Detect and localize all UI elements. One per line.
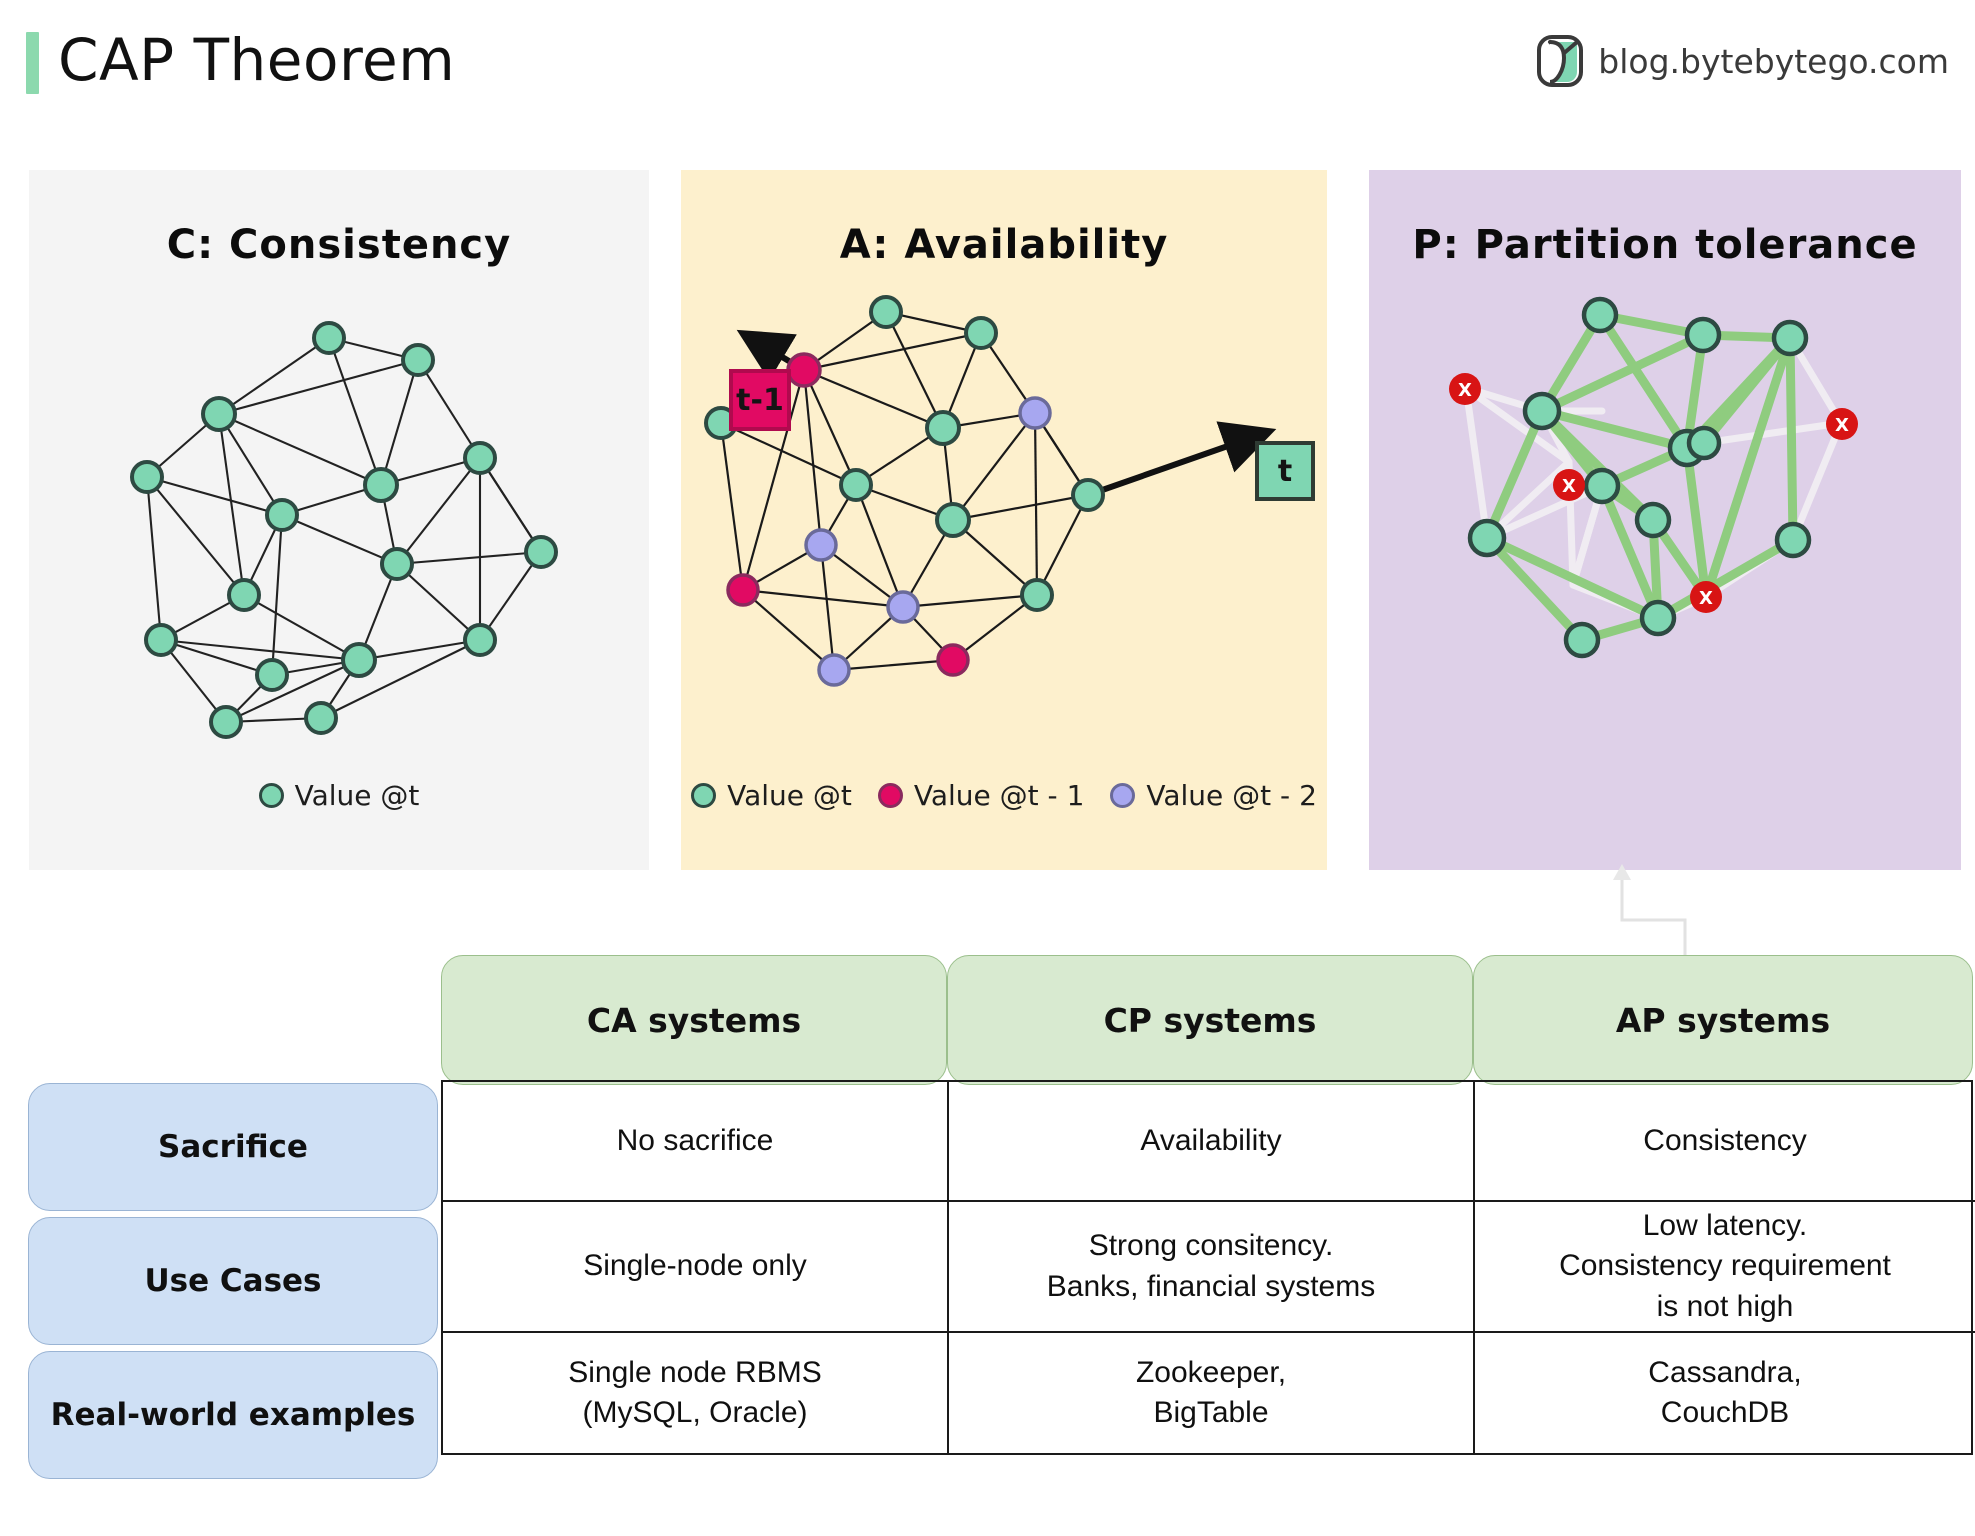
svg-text:X: X [1458, 380, 1472, 401]
legend-item: Value @t - 2 [1110, 779, 1317, 812]
legend-label: Value @t - 1 [914, 779, 1085, 812]
table-column-header-cp: CP systems [947, 955, 1473, 1085]
svg-text:X: X [1562, 476, 1576, 497]
brand: blog.bytebytego.com [1536, 34, 1949, 88]
brand-url: blog.bytebytego.com [1598, 42, 1949, 81]
legend-label: Value @t [295, 779, 420, 812]
table-grid: No sacrifice Availability Consistency Si… [441, 1080, 1973, 1455]
table-cell: Zookeeper, BigTable [949, 1333, 1475, 1453]
legend-label: Value @t [727, 779, 852, 812]
availability-network-graph [681, 170, 1327, 870]
column-header-label: AP systems [1616, 1001, 1830, 1040]
table-cell: Cassandra, CouchDB [1475, 1333, 1975, 1453]
table-row-header-use-cases: Use Cases [28, 1217, 438, 1345]
bytebytego-logo-icon [1536, 34, 1584, 88]
table-cell: Consistency [1475, 1082, 1975, 1202]
table-cell: Single node RBMS (MySQL, Oracle) [443, 1333, 949, 1453]
panel-consistency: C: Consistency [29, 170, 649, 870]
table-column-header-ca: CA systems [441, 955, 947, 1085]
table-cell: Availability [949, 1082, 1475, 1202]
table-column-header-ap: AP systems [1473, 955, 1973, 1085]
table-row-header-sacrifice: Sacrifice [28, 1083, 438, 1211]
column-header-label: CA systems [587, 1001, 801, 1040]
table-row-header-real-world-examples: Real-world examples [28, 1351, 438, 1479]
row-header-label: Sacrifice [158, 1129, 308, 1165]
partition-network-graph: X X X X [1369, 170, 1961, 870]
table-cell: No sacrifice [443, 1082, 949, 1202]
row-header-label: Use Cases [144, 1263, 321, 1299]
row-header-label: Real-world examples [51, 1397, 416, 1433]
availability-legend: Value @t Value @t - 1 Value @t - 2 [681, 779, 1327, 812]
legend-item: Value @t - 1 [878, 779, 1085, 812]
legend-dot-green-icon [691, 783, 716, 808]
table-cell: Single-node only [443, 1202, 949, 1333]
svg-text:X: X [1835, 415, 1849, 436]
title-accent-bar [26, 32, 39, 94]
legend-dot-crimson-icon [878, 783, 903, 808]
table-cell: Strong consitency. Banks, financial syst… [949, 1202, 1475, 1333]
consistency-legend: Value @t [29, 779, 649, 812]
legend-item: Value @t [691, 779, 852, 812]
panel-partition-tolerance: P: Partition tolerance [1369, 170, 1961, 870]
consistency-network-graph [29, 170, 649, 870]
cap-comparison-table: CA systems CP systems AP systems Sacrifi… [0, 955, 1975, 1515]
t-badge: t [1255, 441, 1315, 501]
page-title: CAP Theorem [58, 26, 455, 94]
svg-text:X: X [1699, 588, 1713, 609]
page-header: CAP Theorem blog.bytebytego.com [0, 0, 1975, 120]
panel-availability: A: Availability [681, 170, 1327, 870]
legend-dot-green-icon [259, 783, 284, 808]
legend-item: Value @t [259, 779, 420, 812]
column-header-label: CP systems [1104, 1001, 1317, 1040]
legend-label: Value @t - 2 [1146, 779, 1317, 812]
legend-dot-purple-icon [1110, 783, 1135, 808]
table-cell: Low latency. Consistency requirement is … [1475, 1202, 1975, 1333]
t-minus-1-badge: t-1 [729, 369, 791, 431]
